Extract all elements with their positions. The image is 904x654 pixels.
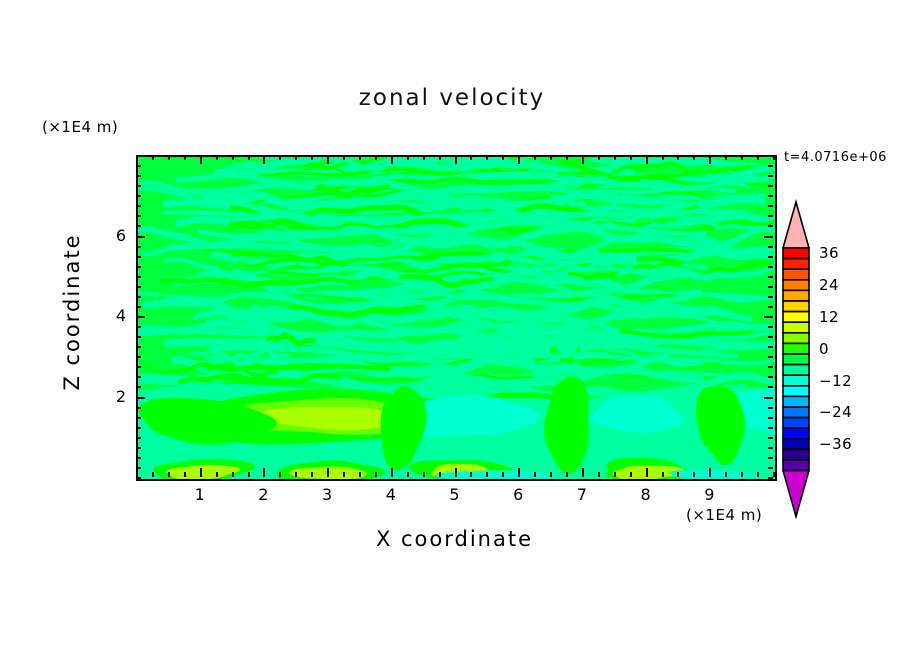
colorbar-band bbox=[783, 333, 809, 344]
colorbar-band bbox=[783, 322, 809, 333]
colorbar-band bbox=[783, 386, 809, 397]
colorbar-band bbox=[783, 407, 809, 418]
colorbar-band bbox=[783, 439, 809, 450]
colorbar-band bbox=[783, 280, 809, 291]
y-axis-title: Z coordinate bbox=[60, 212, 84, 412]
x-axis-tick-label: 5 bbox=[440, 485, 470, 504]
x-axis-tick-label: 7 bbox=[567, 485, 597, 504]
contour-plot-area bbox=[136, 155, 777, 481]
y-axis-tick-label: 4 bbox=[100, 306, 126, 325]
colorbar-band bbox=[783, 375, 809, 386]
colorbar-band bbox=[783, 354, 809, 365]
contour-field bbox=[138, 157, 775, 479]
colorbar-band bbox=[783, 259, 809, 270]
colorbar-over-cap bbox=[783, 202, 809, 248]
time-stamp-annotation: t=4.0716e+06 bbox=[784, 150, 887, 165]
x-axis-tick-label: 6 bbox=[503, 485, 533, 504]
colorbar-band bbox=[783, 269, 809, 280]
x-axis-tick-label: 4 bbox=[376, 485, 406, 504]
colorbar-tick-label: −24 bbox=[819, 403, 852, 421]
x-axis-tick-label: 3 bbox=[312, 485, 342, 504]
colorbar-tick-label: 36 bbox=[819, 244, 839, 262]
colorbar-band bbox=[783, 301, 809, 312]
x-axis-title: X coordinate bbox=[136, 527, 773, 551]
colorbar-band bbox=[783, 449, 809, 460]
x-axis-tick-label: 8 bbox=[631, 485, 661, 504]
y-axis-tick-label: 6 bbox=[100, 226, 126, 245]
colorbar-band bbox=[783, 290, 809, 301]
colorbar-under-cap bbox=[783, 471, 809, 517]
x-axis-tick-label: 9 bbox=[694, 485, 724, 504]
colorbar-band bbox=[783, 365, 809, 376]
colorbar-tick-label: 12 bbox=[819, 308, 839, 326]
colorbar: 3624120−12−24−36 bbox=[775, 196, 895, 526]
colorbar-band bbox=[783, 396, 809, 407]
y-axis-tick-label: 2 bbox=[100, 387, 126, 406]
colorbar-band bbox=[783, 248, 809, 259]
colorbar-tick-label: 0 bbox=[819, 340, 829, 358]
x-axis-unit-label: (×1E4 m) bbox=[686, 506, 762, 524]
plot-title: zonal velocity bbox=[0, 85, 904, 111]
colorbar-tick-label: −12 bbox=[819, 372, 852, 390]
colorbar-band bbox=[783, 343, 809, 354]
x-axis-tick-label: 2 bbox=[248, 485, 278, 504]
y-axis-unit-label: (×1E4 m) bbox=[42, 118, 118, 136]
colorbar-band bbox=[783, 460, 809, 471]
colorbar-band bbox=[783, 418, 809, 429]
colorbar-band bbox=[783, 428, 809, 439]
colorbar-tick-label: −36 bbox=[819, 435, 852, 453]
colorbar-tick-label: 24 bbox=[819, 276, 839, 294]
x-axis-tick-label: 1 bbox=[185, 485, 215, 504]
colorbar-band bbox=[783, 312, 809, 323]
